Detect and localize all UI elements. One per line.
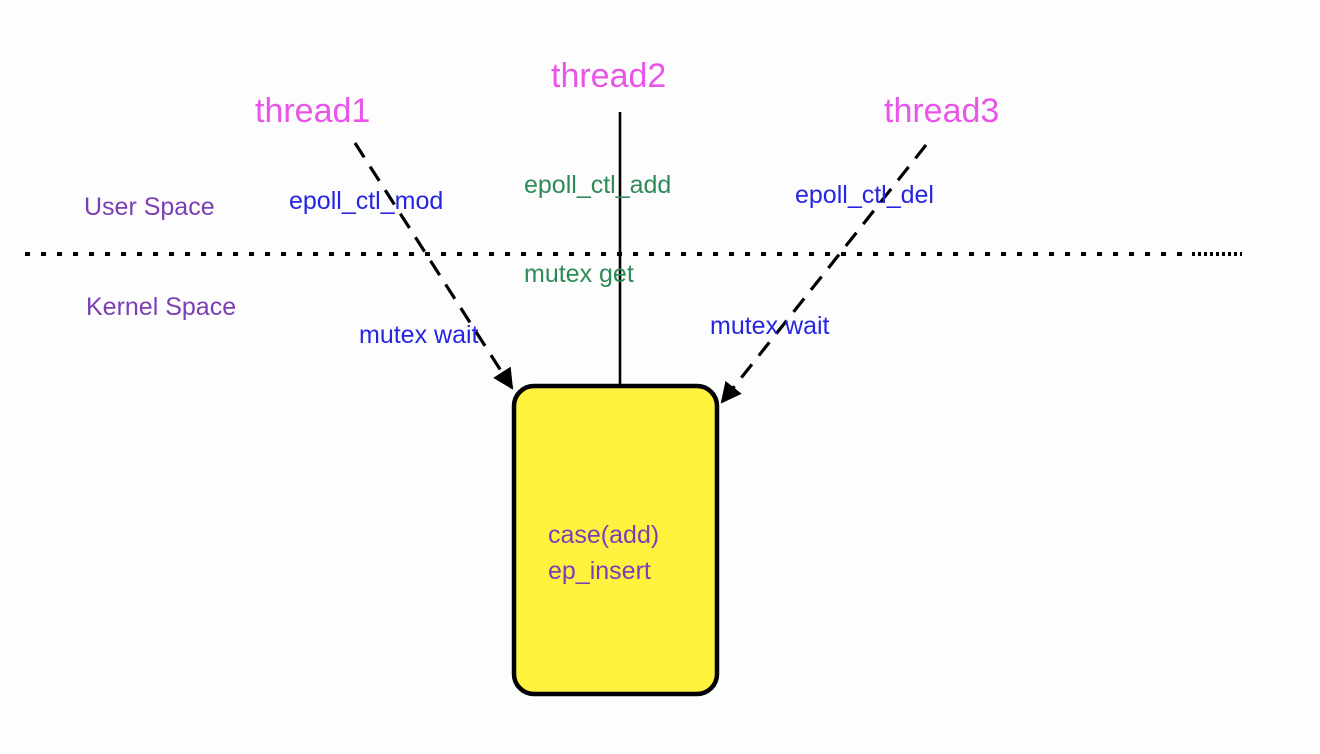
region-label-kernel-space: Kernel Space <box>86 294 236 320</box>
mutex-label-mutex-get: mutex get <box>524 261 634 287</box>
case-add-box-line2: ep_insert <box>548 554 651 590</box>
mutex-label-mutex-wait-left: mutex wait <box>359 322 478 348</box>
case-add-box-line1: case(add) <box>548 518 659 554</box>
diagram-canvas: thread1 thread2 thread3 User Space Kerne… <box>0 0 1320 754</box>
diagram-vector-layer <box>0 0 1320 754</box>
syscall-label-epoll-ctl-del: epoll_ctl_del <box>795 182 934 208</box>
thread-label-thread2: thread2 <box>551 59 666 95</box>
syscall-label-epoll-ctl-mod: epoll_ctl_mod <box>289 188 443 214</box>
thread1-arrow <box>355 143 512 388</box>
thread-label-thread1: thread1 <box>255 94 370 130</box>
mutex-label-mutex-wait-right: mutex wait <box>710 313 829 339</box>
thread-label-thread3: thread3 <box>884 94 999 130</box>
syscall-label-epoll-ctl-add: epoll_ctl_add <box>524 172 671 198</box>
region-label-user-space: User Space <box>84 194 215 220</box>
